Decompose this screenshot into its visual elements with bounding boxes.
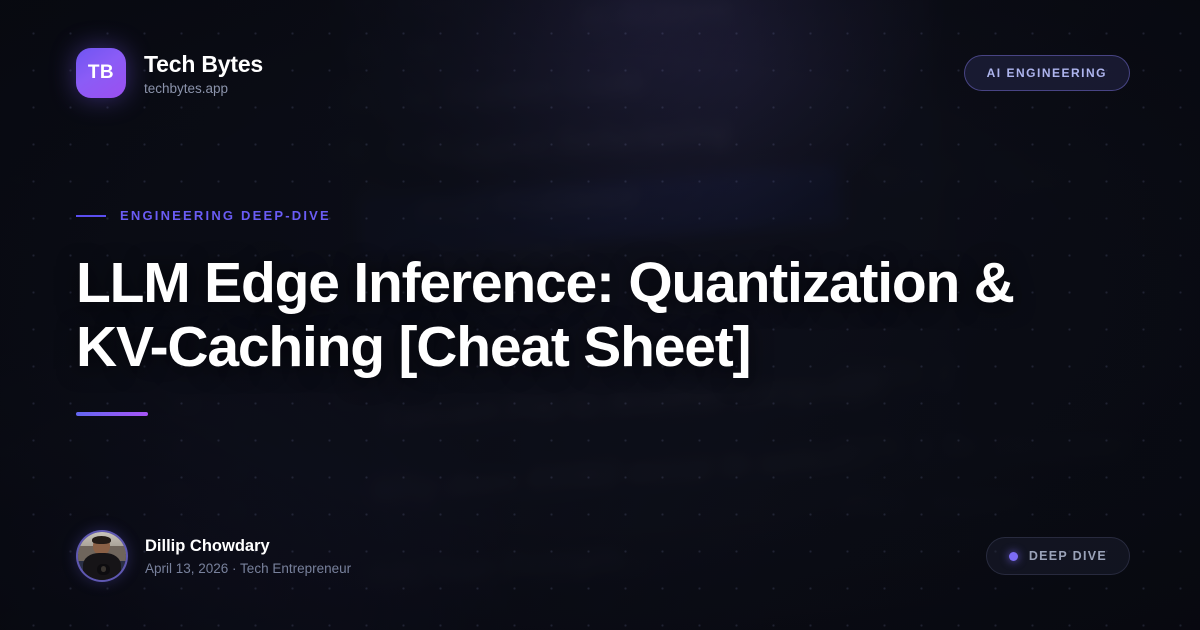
og-card-canvas: let cases(1, to(2, to(3, to];as"0(0)", "…	[0, 0, 1200, 630]
brand-url: techbytes.app	[144, 81, 263, 96]
topic-badge[interactable]: AI ENGINEERING	[964, 55, 1130, 91]
author-meta: April 13, 2026 · Tech Entrepreneur	[145, 561, 351, 576]
avatar	[76, 530, 128, 582]
eyebrow: ENGINEERING DEEP-DIVE	[76, 208, 1086, 223]
brand-text: Tech Bytes techbytes.app	[144, 51, 263, 96]
brand[interactable]: TB Tech Bytes techbytes.app	[76, 48, 263, 98]
page-title: LLM Edge Inference: Quantization & KV-Ca…	[76, 251, 1061, 380]
deep-dive-label: DEEP DIVE	[1029, 549, 1107, 563]
avatar-hair	[92, 536, 111, 544]
brand-logo-initials: TB	[88, 62, 114, 84]
eyebrow-label: ENGINEERING DEEP-DIVE	[120, 208, 331, 223]
card-content: TB Tech Bytes techbytes.app AI ENGINEERI…	[0, 0, 1200, 630]
brand-logo: TB	[76, 48, 126, 98]
card-header: TB Tech Bytes techbytes.app AI ENGINEERI…	[76, 48, 1130, 98]
deep-dive-badge[interactable]: DEEP DIVE	[986, 537, 1130, 575]
hero-section: ENGINEERING DEEP-DIVE LLM Edge Inference…	[76, 208, 1086, 416]
eyebrow-dash-icon	[76, 215, 106, 217]
author[interactable]: Dillip Chowdary April 13, 2026 · Tech En…	[76, 530, 351, 582]
status-dot-icon	[1009, 552, 1018, 561]
author-text: Dillip Chowdary April 13, 2026 · Tech En…	[145, 537, 351, 576]
brand-name: Tech Bytes	[144, 51, 263, 78]
author-name: Dillip Chowdary	[145, 537, 351, 556]
card-footer: Dillip Chowdary April 13, 2026 · Tech En…	[76, 530, 1130, 582]
title-accent-bar	[76, 412, 148, 416]
